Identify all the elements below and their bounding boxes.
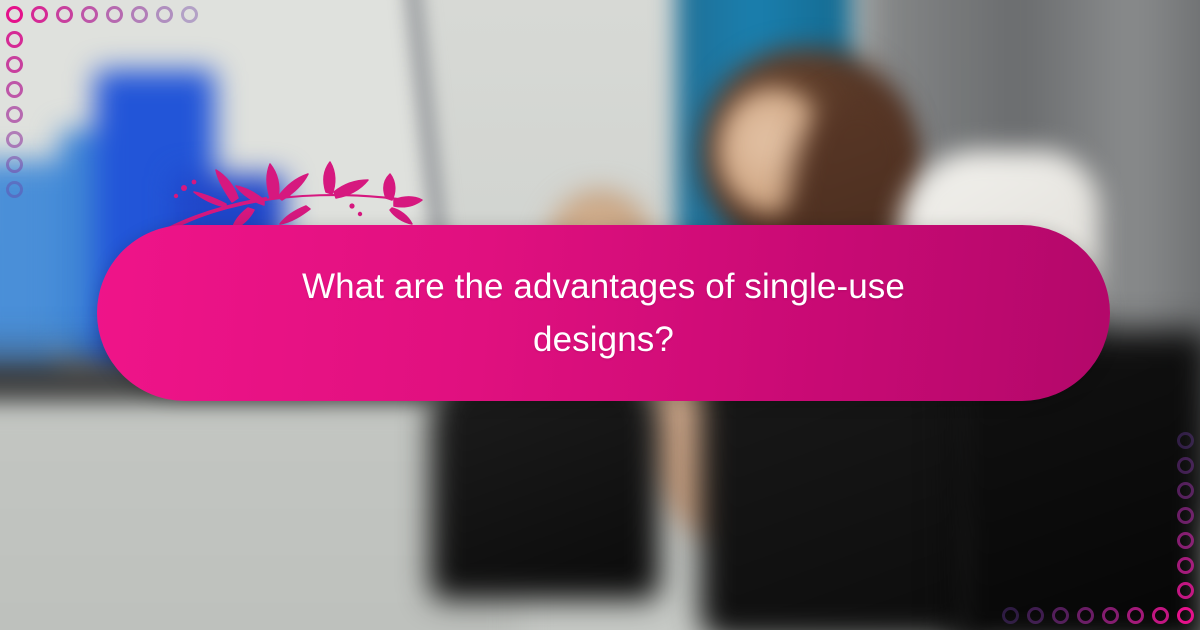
decor-dot xyxy=(6,6,23,23)
decor-dot xyxy=(1177,457,1194,474)
decor-dot xyxy=(1177,507,1194,524)
decor-dot xyxy=(56,6,73,23)
decor-dot xyxy=(1177,557,1194,574)
decor-dot xyxy=(181,6,198,23)
decor-dot xyxy=(1052,607,1069,624)
decor-dot xyxy=(6,106,23,123)
decor-dot xyxy=(1102,607,1119,624)
decor-dot xyxy=(1177,607,1194,624)
decor-dot xyxy=(6,181,23,198)
decor-dot xyxy=(1177,582,1194,599)
decor-dot xyxy=(156,6,173,23)
question-text: What are the advantages of single-use de… xyxy=(254,260,954,366)
decor-dot xyxy=(131,6,148,23)
decor-dot xyxy=(6,81,23,98)
dot-grid-bottom-right xyxy=(1002,432,1194,624)
question-pill-banner: What are the advantages of single-use de… xyxy=(97,225,1110,401)
decor-dot xyxy=(6,156,23,173)
decor-dot xyxy=(1077,607,1094,624)
decor-dot xyxy=(106,6,123,23)
decor-dot xyxy=(1127,607,1144,624)
decor-dot xyxy=(1002,607,1019,624)
decor-dot xyxy=(1177,432,1194,449)
decor-dot xyxy=(6,56,23,73)
decor-dot xyxy=(1027,607,1044,624)
decor-dot xyxy=(6,131,23,148)
dot-grid-top-left xyxy=(6,6,198,198)
decor-dot xyxy=(1152,607,1169,624)
decor-dot xyxy=(31,6,48,23)
decor-dot xyxy=(81,6,98,23)
decor-dot xyxy=(6,31,23,48)
decor-dot xyxy=(1177,532,1194,549)
question-card-canvas: What are the advantages of single-use de… xyxy=(0,0,1200,630)
decor-dot xyxy=(1177,482,1194,499)
